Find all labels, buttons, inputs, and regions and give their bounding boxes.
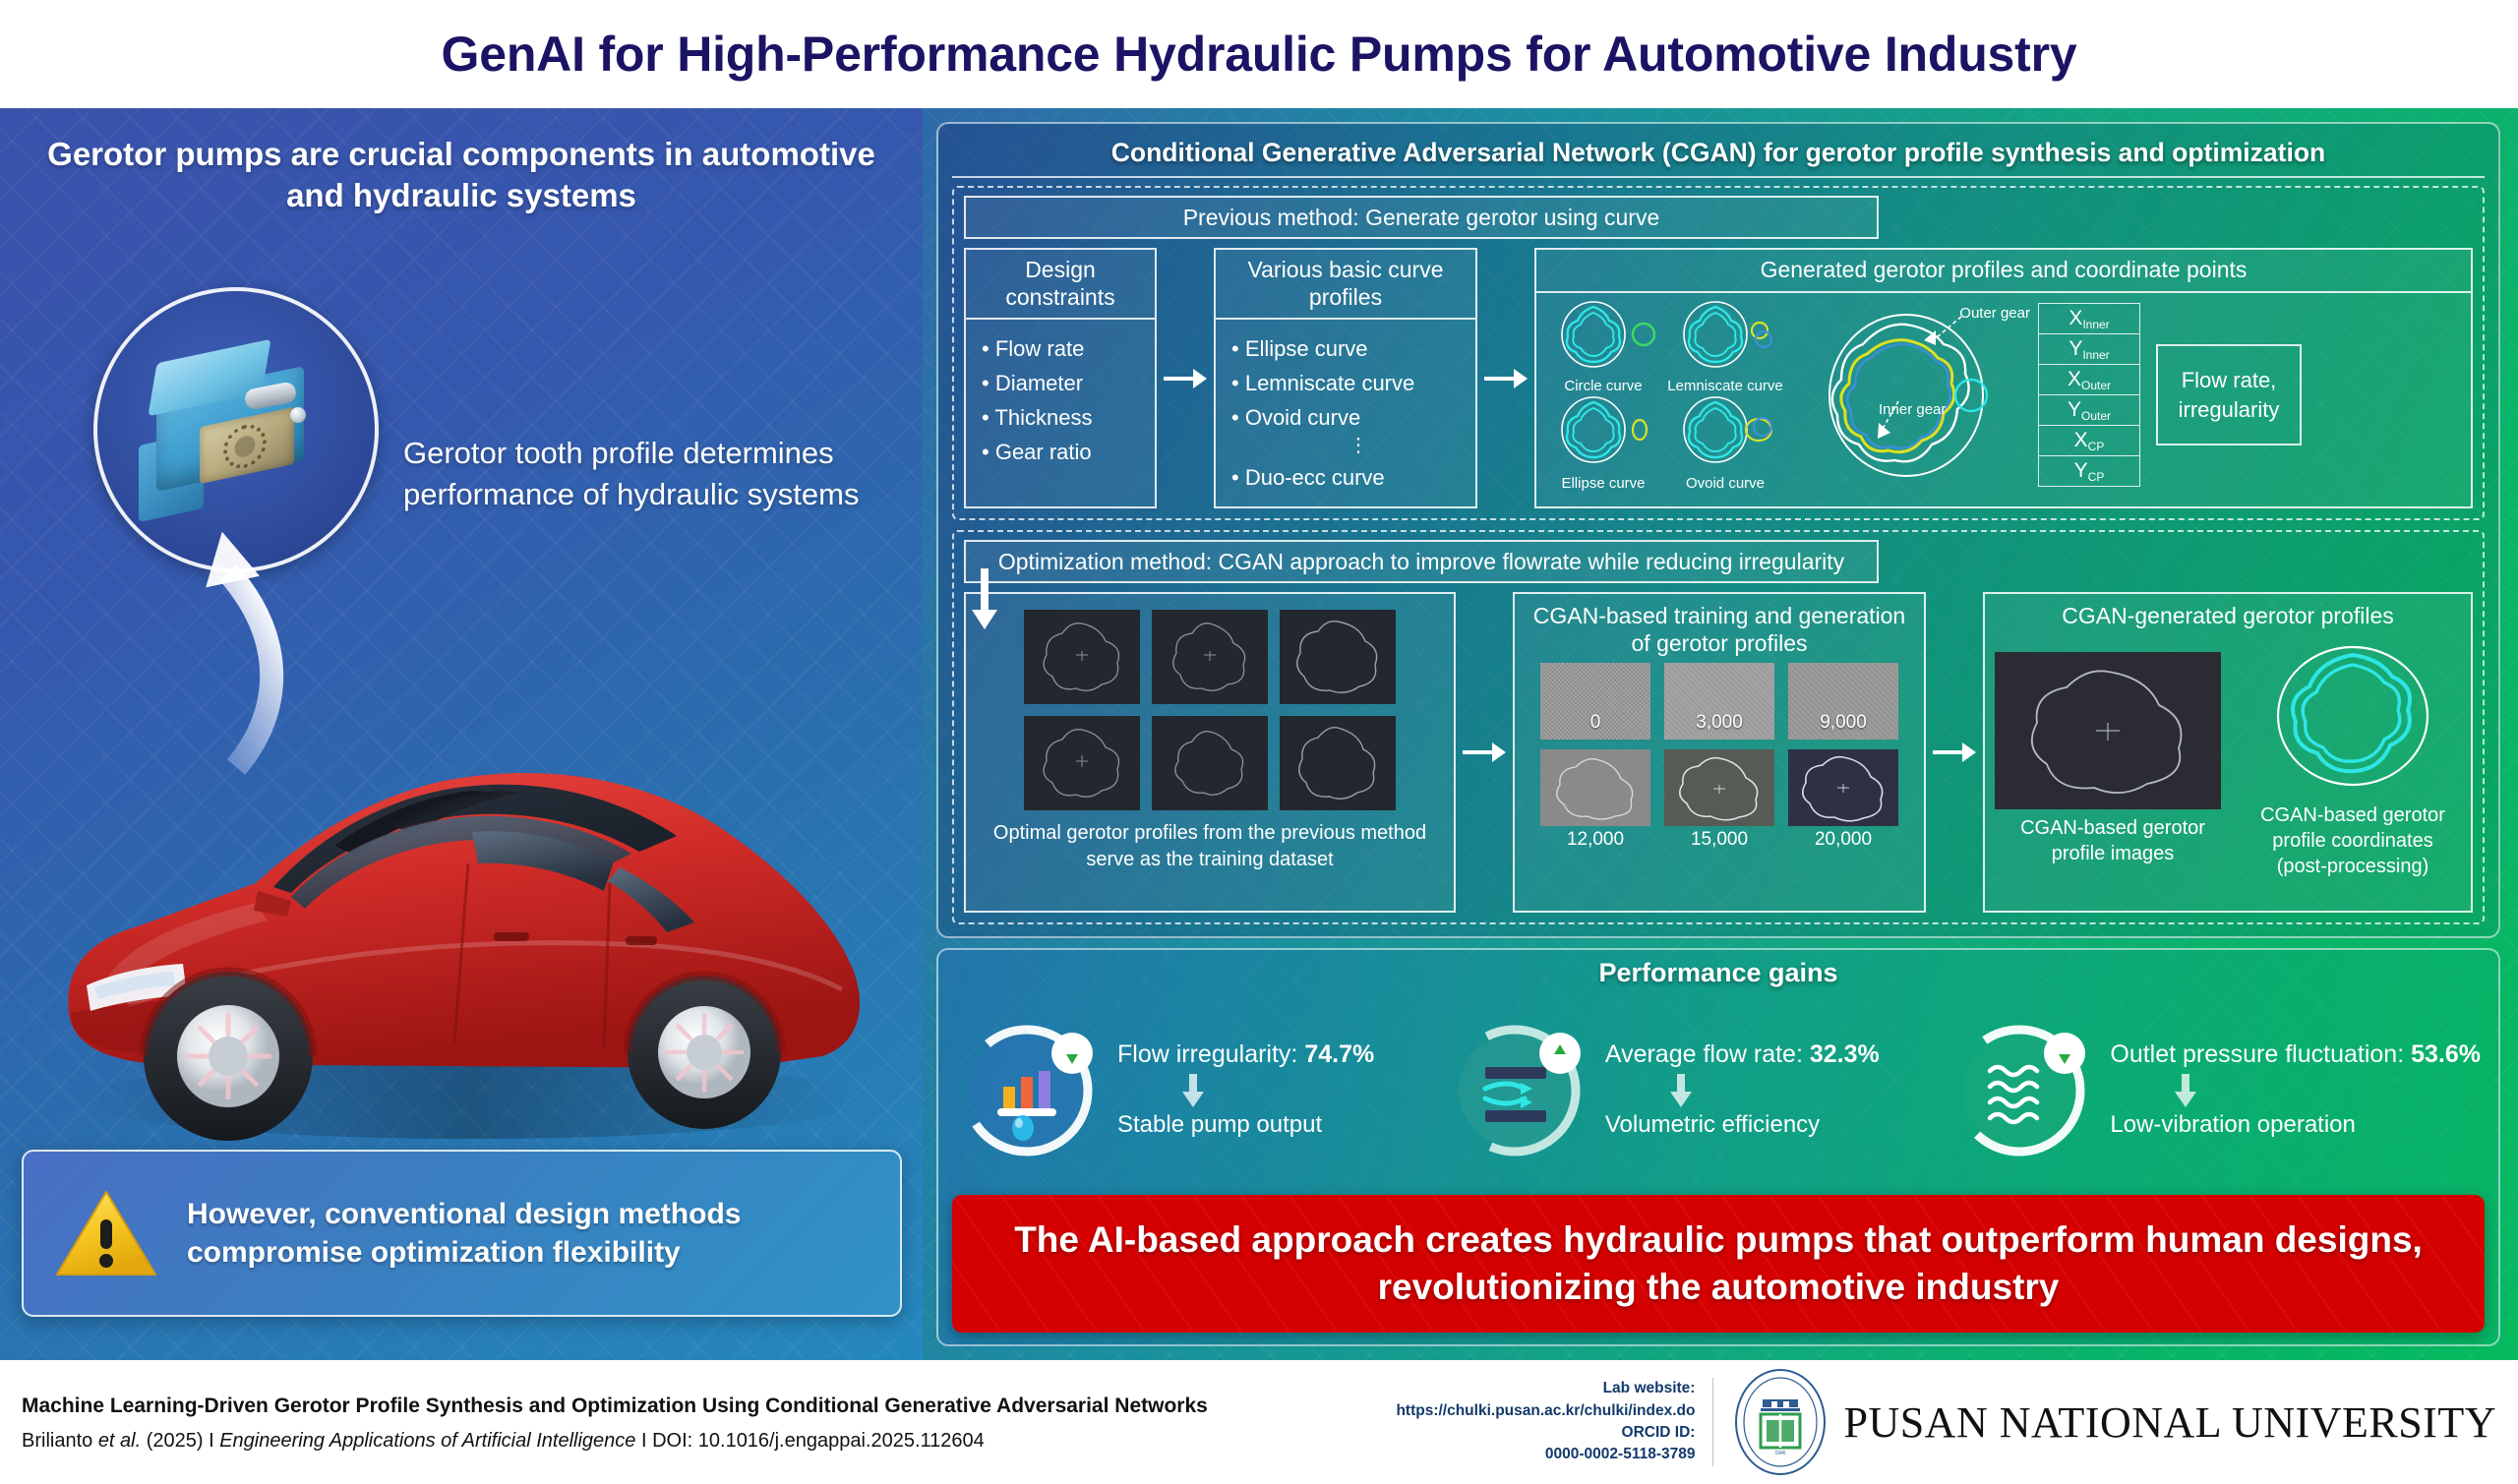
iteration-cell: 3,000 xyxy=(1664,663,1774,740)
cgan-generated-content: CGAN-based gerotor profile images xyxy=(1995,639,2461,879)
curved-arrow-icon xyxy=(110,521,366,777)
iteration-label: 15,000 xyxy=(1664,829,1774,851)
university-branding: 1946 PUSAN NATIONAL UNIVERSITY xyxy=(1733,1368,2496,1476)
generated-profiles-title: Generated gerotor profiles and coordinat… xyxy=(1536,250,2471,293)
design-constraints-title: Design constraints xyxy=(966,250,1155,320)
curve-thumb-caption: Ovoid curve xyxy=(1666,475,1784,492)
warning-text: However, conventional design methods com… xyxy=(187,1195,870,1272)
iteration-label: 3,000 xyxy=(1664,712,1774,734)
profile-image xyxy=(1788,749,1898,826)
citation-doi: I DOI: 10.1016/j.engappai.2025.112604 xyxy=(635,1430,984,1452)
training-dataset-caption: Optimal gerotor profiles from the previo… xyxy=(978,820,1442,872)
metric-label: Average flow rate: xyxy=(1605,1040,1810,1068)
cgan-generated-title: CGAN-generated gerotor profiles xyxy=(1995,602,2461,629)
inner-gear-label: Inner gear xyxy=(1879,401,1946,418)
title-bar: GenAI for High-Performance Hydraulic Pum… xyxy=(0,0,2518,108)
metric-headline-2: Average flow rate: 32.3% xyxy=(1605,1039,1880,1070)
metric-outlet-pressure-fluctuation: Outlet pressure fluctuation: 53.6% Low-v… xyxy=(1948,1016,2481,1163)
training-thumb xyxy=(1152,716,1268,810)
coord-row: YOuter xyxy=(2038,394,2140,425)
training-thumbnails xyxy=(978,610,1442,810)
performance-gains-panel: Performance gains xyxy=(936,948,2500,1346)
iteration-label: 0 xyxy=(1540,712,1650,734)
cgan-profile-coords-figure xyxy=(2245,639,2461,797)
training-thumb xyxy=(1024,716,1140,810)
list-item: Gear ratio xyxy=(982,435,1139,469)
metric-text-1: Flow irregularity: 74.7% Stable pump out… xyxy=(1117,1039,1374,1139)
conclusion-banner: The AI-based approach creates hydraulic … xyxy=(952,1195,2485,1333)
list-item: Ovoid curve xyxy=(1231,400,1460,435)
waves-icon xyxy=(1948,1016,2096,1163)
performance-gains-title: Performance gains xyxy=(952,958,2485,988)
citation-authors: Brilianto xyxy=(22,1430,98,1452)
lab-website-url[interactable]: https://chulki.pusan.ac.kr/chulki/index.… xyxy=(1396,1400,1695,1422)
metric-value: 74.7% xyxy=(1304,1040,1374,1068)
coord-row: XCP xyxy=(2038,425,2140,455)
footer: Machine Learning-Driven Gerotor Profile … xyxy=(0,1360,2518,1484)
conclusion-banner-text: The AI-based approach creates hydraulic … xyxy=(952,1217,2485,1311)
left-panel: Gerotor pumps are crucial components in … xyxy=(0,108,923,1360)
ovoid-curve-icon xyxy=(1666,396,1784,469)
list-item: Duo-ecc curve xyxy=(1231,460,1460,495)
lab-info-block: Lab website: https://chulki.pusan.ac.kr/… xyxy=(1396,1378,1713,1466)
abstract-body: Gerotor pumps are crucial components in … xyxy=(0,108,2518,1360)
pusan-national-university-seal-icon: 1946 xyxy=(1733,1368,1828,1476)
arrow-right-icon-1 xyxy=(1157,248,1214,508)
iteration-cell: 12,000 xyxy=(1540,749,1650,851)
cgan-iteration-grid: 0 3,000 9,000 xyxy=(1525,663,1914,851)
iteration-cell: 9,000 xyxy=(1788,663,1898,740)
curve-thumb-caption: Circle curve xyxy=(1544,378,1662,394)
training-thumb xyxy=(1024,610,1140,704)
metric-headline-1: Flow irregularity: 74.7% xyxy=(1117,1039,1374,1070)
metric-value: 53.6% xyxy=(2411,1040,2481,1068)
gerotor-assembly-diagram: Outer gear Inner gear xyxy=(1788,299,2034,491)
list-item: Ellipse curve xyxy=(1231,331,1460,366)
metric-label: Flow irregularity: xyxy=(1117,1040,1304,1068)
arrow-down-icon xyxy=(2173,1074,2198,1107)
flow-arrows-icon xyxy=(1444,1016,1591,1163)
warning-callout: However, conventional design methods com… xyxy=(22,1150,902,1317)
training-thumb xyxy=(1280,610,1396,704)
list-item: Diameter xyxy=(982,366,1139,400)
optimization-flow: Optimal gerotor profiles from the previo… xyxy=(964,592,2473,913)
metric-flow-irregularity: Flow irregularity: 74.7% Stable pump out… xyxy=(956,1016,1374,1163)
cgan-profile-coords-caption: CGAN-based gerotor profile coordinates (… xyxy=(2245,802,2461,879)
training-dataset-box: Optimal gerotor profiles from the previo… xyxy=(964,592,1456,913)
curve-thumb-lemniscate: Lemniscate curve xyxy=(1666,299,1784,394)
previous-method-header: Previous method: Generate gerotor using … xyxy=(964,196,1879,239)
iteration-label: 20,000 xyxy=(1788,829,1898,851)
training-thumb xyxy=(1280,716,1396,810)
university-name: PUSAN NATIONAL UNIVERSITY xyxy=(1843,1397,2496,1448)
ellipse-curve-icon xyxy=(1544,396,1662,469)
paper-title: Machine Learning-Driven Gerotor Profile … xyxy=(22,1392,1396,1421)
cgan-panel-title: Conditional Generative Adversarial Netwo… xyxy=(952,134,2485,178)
curve-profiles-box: Various basic curve profiles Ellipse cur… xyxy=(1214,248,1477,508)
list-ellipsis: ⋮ xyxy=(1231,435,1460,460)
metric-outcome: Stable pump output xyxy=(1117,1111,1374,1139)
profile-image xyxy=(1664,749,1774,826)
flowrate-irregularity-output: Flow rate, irregularity xyxy=(2156,344,2302,445)
pump-caption: Gerotor tooth profile determines perform… xyxy=(403,433,866,515)
arrow-down-icon xyxy=(1668,1074,1694,1107)
generated-profiles-content: Circle curve xyxy=(1536,293,2471,500)
design-constraints-list: Flow rate Diameter Thickness Gear ratio xyxy=(966,320,1155,506)
svg-text:1946: 1946 xyxy=(1775,1451,1786,1456)
arrow-right-icon-3 xyxy=(1456,592,1513,913)
lemniscate-curve-icon xyxy=(1666,299,1784,372)
curve-thumb-ovoid: Ovoid curve xyxy=(1666,396,1784,492)
iteration-cell: 20,000 xyxy=(1788,749,1898,851)
page-title: GenAI for High-Performance Hydraulic Pum… xyxy=(442,26,2077,83)
cgan-profile-image xyxy=(1995,652,2221,809)
cgan-training-title: CGAN-based training and generation of ge… xyxy=(1525,602,1914,657)
optimization-method-section: Optimization method: CGAN approach to im… xyxy=(952,530,2485,924)
curve-profiles-list: Ellipse curve Lemniscate curve Ovoid cur… xyxy=(1216,320,1475,506)
generated-profiles-box: Generated gerotor profiles and coordinat… xyxy=(1534,248,2473,508)
bar-chart-icon xyxy=(956,1016,1104,1163)
warning-triangle-icon xyxy=(53,1186,159,1280)
arrow-right-icon-2 xyxy=(1477,248,1534,508)
arrow-down-icon xyxy=(1180,1074,1206,1107)
curve-thumb-circle: Circle curve xyxy=(1544,299,1662,394)
metric-text-2: Average flow rate: 32.3% Volumetric effi… xyxy=(1605,1039,1880,1139)
pump-screw xyxy=(290,407,306,423)
arrow-down-icon xyxy=(972,568,997,629)
outer-gear-label: Outer gear xyxy=(1959,305,2030,322)
coord-row: XInner xyxy=(2038,303,2140,333)
profile-image xyxy=(1540,749,1650,826)
metric-headline-3: Outlet pressure fluctuation: 53.6% xyxy=(2110,1039,2481,1070)
optimization-method-header: Optimization method: CGAN approach to im… xyxy=(964,540,1879,583)
orcid-value: 0000-0002-5118-3789 xyxy=(1396,1444,1695,1465)
metric-text-3: Outlet pressure fluctuation: 53.6% Low-v… xyxy=(2110,1039,2481,1139)
citation-year: (2025) I xyxy=(141,1430,219,1452)
iteration-cell: 0 xyxy=(1540,663,1650,740)
metric-average-flow-rate: Average flow rate: 32.3% Volumetric effi… xyxy=(1444,1016,1880,1163)
iteration-label: 9,000 xyxy=(1788,712,1898,734)
list-item: Flow rate xyxy=(982,331,1139,366)
curve-thumbnail-grid: Circle curve xyxy=(1544,299,1784,492)
cgan-training-box: CGAN-based training and generation of ge… xyxy=(1513,592,1926,913)
metric-outcome: Volumetric efficiency xyxy=(1605,1111,1880,1139)
training-thumb xyxy=(1152,610,1268,704)
coord-row: YInner xyxy=(2038,333,2140,364)
cgan-generated-box: CGAN-generated gerotor profiles CGAN-bas… xyxy=(1983,592,2473,913)
cgan-panel: Conditional Generative Adversarial Netwo… xyxy=(936,122,2500,938)
metric-label: Outlet pressure fluctuation: xyxy=(2110,1040,2411,1068)
metric-outcome: Low-vibration operation xyxy=(2110,1111,2481,1139)
list-item: Thickness xyxy=(982,400,1139,435)
curve-thumb-ellipse: Ellipse curve xyxy=(1544,396,1662,492)
lab-website-label: Lab website: xyxy=(1396,1378,1695,1399)
coordinate-points-table: XInner YInner XOuter YOuter XCP YCP xyxy=(2038,303,2140,487)
iteration-label: 12,000 xyxy=(1540,829,1650,851)
curve-profiles-title: Various basic curve profiles xyxy=(1216,250,1475,320)
iteration-cell: 15,000 xyxy=(1664,749,1774,851)
citation-block: Machine Learning-Driven Gerotor Profile … xyxy=(22,1392,1396,1453)
citation-line: Brilianto et al. (2025) I Engineering Ap… xyxy=(22,1430,1396,1453)
coord-row: YCP xyxy=(2038,455,2140,487)
design-constraints-box: Design constraints Flow rate Diameter Th… xyxy=(964,248,1157,508)
arrow-right-icon-4 xyxy=(1926,592,1983,913)
circle-curve-icon xyxy=(1544,299,1662,372)
orcid-label: ORCID ID: xyxy=(1396,1422,1695,1444)
right-panel: Conditional Generative Adversarial Netwo… xyxy=(923,108,2518,1360)
performance-metrics-row: Flow irregularity: 74.7% Stable pump out… xyxy=(952,992,2485,1186)
curve-thumb-caption: Ellipse curve xyxy=(1544,475,1662,492)
coord-row: XOuter xyxy=(2038,364,2140,394)
previous-method-flow: Design constraints Flow rate Diameter Th… xyxy=(964,248,2473,508)
previous-method-section: Previous method: Generate gerotor using … xyxy=(952,186,2485,520)
list-item: Lemniscate curve xyxy=(1231,366,1460,400)
left-panel-heading: Gerotor pumps are crucial components in … xyxy=(33,134,889,216)
citation-etal: et al. xyxy=(98,1430,141,1452)
citation-journal: Engineering Applications of Artificial I… xyxy=(219,1430,635,1452)
metric-value: 32.3% xyxy=(1810,1040,1880,1068)
curve-thumb-caption: Lemniscate curve xyxy=(1666,378,1784,394)
cgan-profile-image-caption: CGAN-based gerotor profile images xyxy=(1995,815,2231,866)
